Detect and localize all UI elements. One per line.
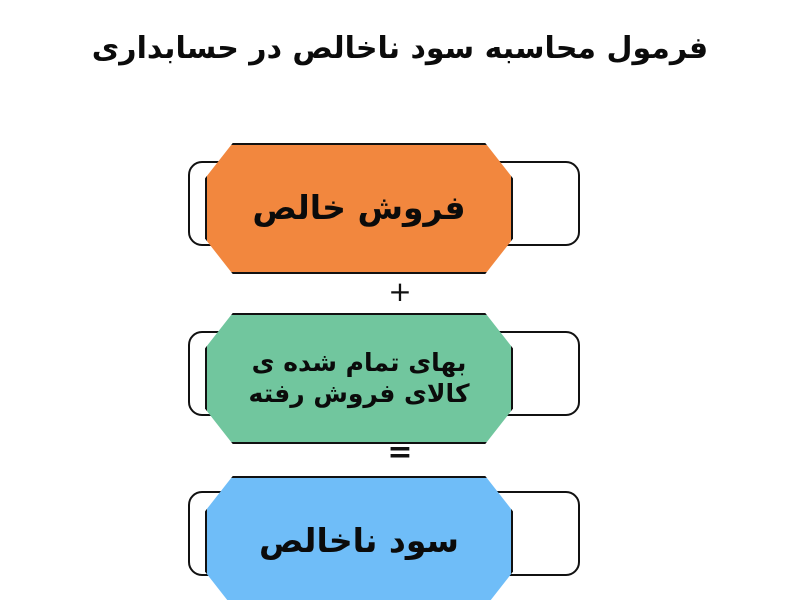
formula-stack: فروش خالص + بهای تمام شده ی کالای فروش ر… bbox=[0, 0, 800, 600]
formula-row-gross-profit: سود ناخالص bbox=[0, 0, 800, 600]
gross-profit-label: سود ناخالص bbox=[241, 521, 477, 561]
diagram-canvas: فرمول محاسبه سود ناخالص در حسابداری فروش… bbox=[0, 0, 800, 600]
gross-profit-box[interactable]: سود ناخالص bbox=[205, 476, 513, 600]
